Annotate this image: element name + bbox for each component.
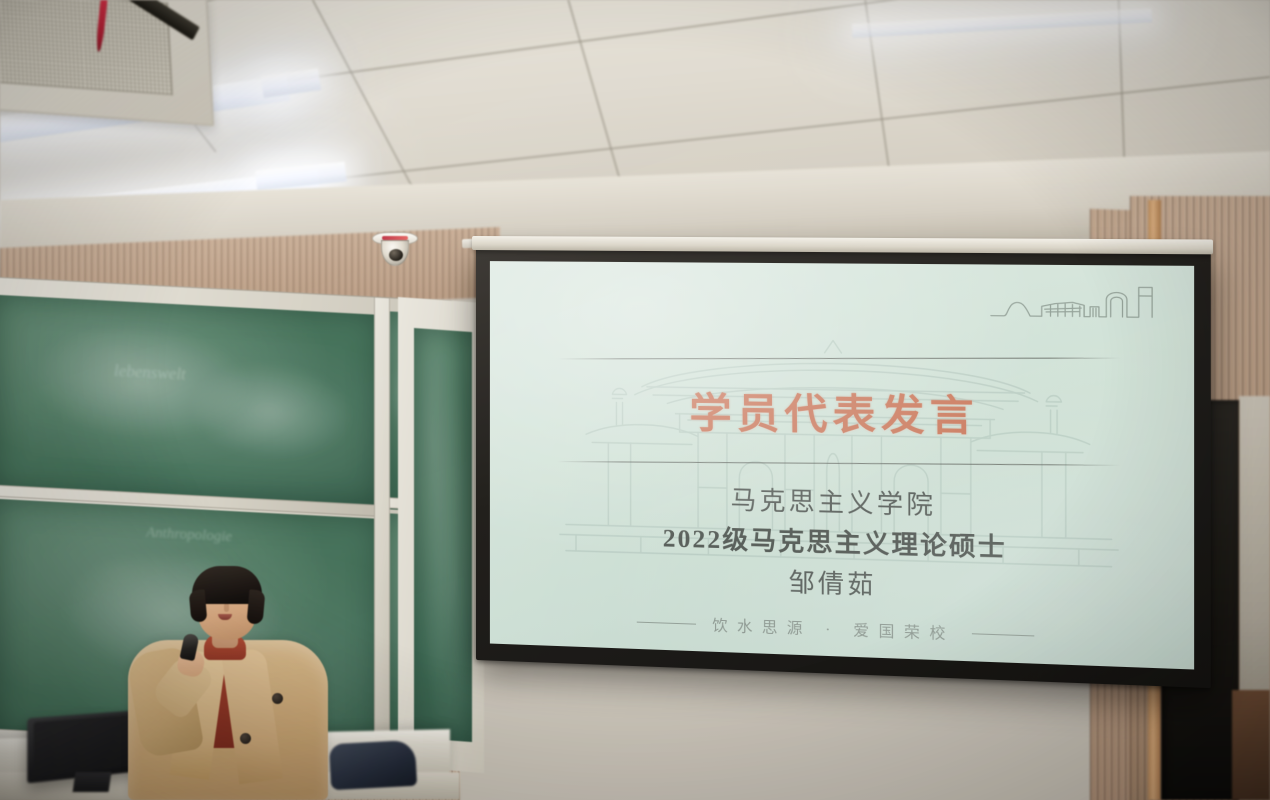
ac-grille-icon [0, 0, 173, 95]
chalkboard-panel: lebenswelt [0, 295, 378, 507]
bag [329, 740, 417, 790]
projection-screen: 学员代表发言 马克思主义学院 2022级马克思主义理论硕士 邹倩茹 饮水思源 ·… [476, 248, 1211, 688]
monitor-stand [73, 772, 112, 792]
slide-rule-middle [557, 461, 1120, 466]
nose [224, 603, 229, 612]
camera-lens-icon [389, 249, 403, 261]
ceiling-light-panel [261, 68, 321, 98]
slide-rule-top [557, 358, 1120, 360]
speaker [120, 570, 340, 800]
screen-roller-housing [472, 236, 1213, 254]
slide-subtitle-block: 马克思主义学院 2022级马克思主义理论硕士 邹倩茹 [490, 476, 1194, 617]
hair-side-left [189, 589, 208, 622]
slide-title: 学员代表发言 [490, 377, 1194, 445]
dome-camera [372, 232, 418, 245]
footer-dash-right [972, 633, 1034, 636]
classroom-photo-scene: lebenswelt Anthropologie [0, 0, 1270, 800]
coat-button [272, 693, 283, 704]
hair-side-right [247, 589, 266, 624]
footer-dash-left [636, 622, 695, 625]
chalkboard-panel [414, 328, 472, 742]
ceiling-ac-unit [0, 0, 214, 126]
coat-button [240, 733, 251, 744]
slide-footer-motto: 饮水思源 · 爱国荣校 [712, 614, 955, 644]
corridor-floor [1232, 690, 1270, 800]
presentation-slide: 学员代表发言 马克思主义学院 2022级马克思主义理论硕士 邹倩茹 饮水思源 ·… [490, 261, 1194, 669]
chalkboard-mullion [374, 297, 390, 764]
ceiling-light-panel [852, 8, 1152, 38]
campus-skyline-logo [988, 279, 1157, 325]
